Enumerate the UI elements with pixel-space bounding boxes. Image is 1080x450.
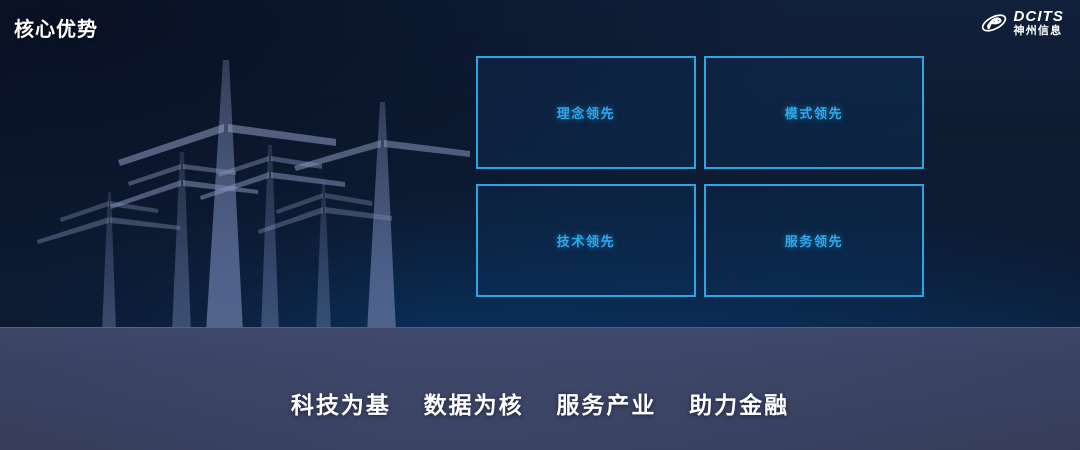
- footer-tagline: 科技为基 数据为核 服务产业 助力金融: [0, 386, 1080, 420]
- advantage-card-1-label: 理念领先: [557, 103, 615, 122]
- advantage-card-4-label: 服务领先: [785, 231, 843, 250]
- advantage-card-4[interactable]: 服务领先: [704, 184, 924, 297]
- tagline-part-3: 服务产业: [556, 386, 656, 420]
- swirl-galaxy-icon: [980, 10, 1008, 36]
- tagline-part-4: 助力金融: [689, 386, 789, 420]
- advantage-card-2[interactable]: 模式领先: [704, 56, 924, 169]
- tagline-part-1: 科技为基: [291, 386, 391, 420]
- advantage-card-3[interactable]: 技术领先: [476, 184, 696, 297]
- advantage-card-2-label: 模式领先: [785, 103, 843, 122]
- brand-text: DCITS 神州信息: [1014, 9, 1065, 37]
- tagline-part-2: 数据为核: [424, 386, 524, 420]
- slide-root: 核心优势 DCITS 神州信息 理念领先 模式领先 技术领先 服务领先 科技为基…: [0, 0, 1080, 450]
- brand-logo: DCITS 神州信息: [980, 9, 1065, 37]
- brand-name-cn: 神州信息: [1014, 26, 1063, 37]
- power-transmission-towers-icon: [0, 40, 470, 332]
- advantage-card-3-label: 技术领先: [557, 231, 615, 250]
- brand-name-en: DCITS: [1014, 9, 1065, 24]
- advantage-card-1[interactable]: 理念领先: [476, 56, 696, 169]
- page-title: 核心优势: [14, 13, 98, 42]
- advantage-card-grid: 理念领先 模式领先 技术领先 服务领先: [476, 56, 924, 297]
